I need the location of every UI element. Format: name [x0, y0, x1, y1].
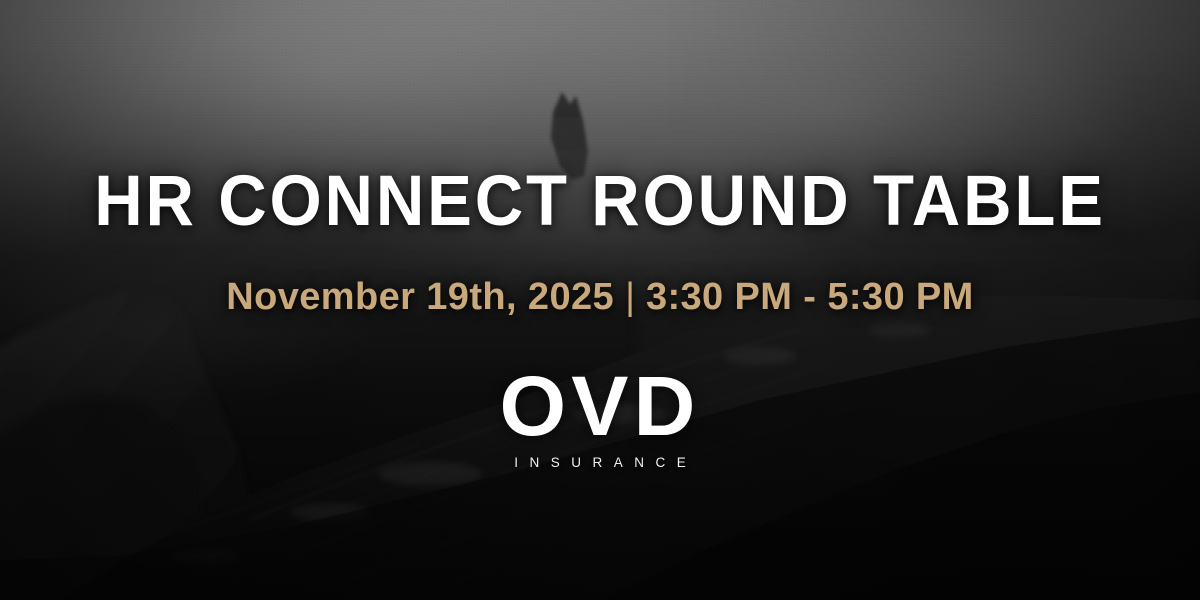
event-time: 3:30 PM - 5:30 PM	[646, 276, 974, 318]
brand-logo: OVD INSURANCE	[0, 366, 1200, 470]
event-datetime: November 19th, 2025|3:30 PM - 5:30 PM	[0, 275, 1200, 319]
event-title: HR CONNECT ROUND TABLE	[33, 166, 1167, 238]
brand-wordmark: OVD	[0, 366, 1200, 446]
event-banner: HR CONNECT ROUND TABLE November 19th, 20…	[0, 0, 1200, 600]
datetime-separator: |	[614, 276, 646, 318]
brand-tagline: INSURANCE	[0, 455, 1200, 470]
event-date: November 19th, 2025	[226, 276, 614, 318]
banner-content: HR CONNECT ROUND TABLE November 19th, 20…	[0, 0, 1200, 600]
